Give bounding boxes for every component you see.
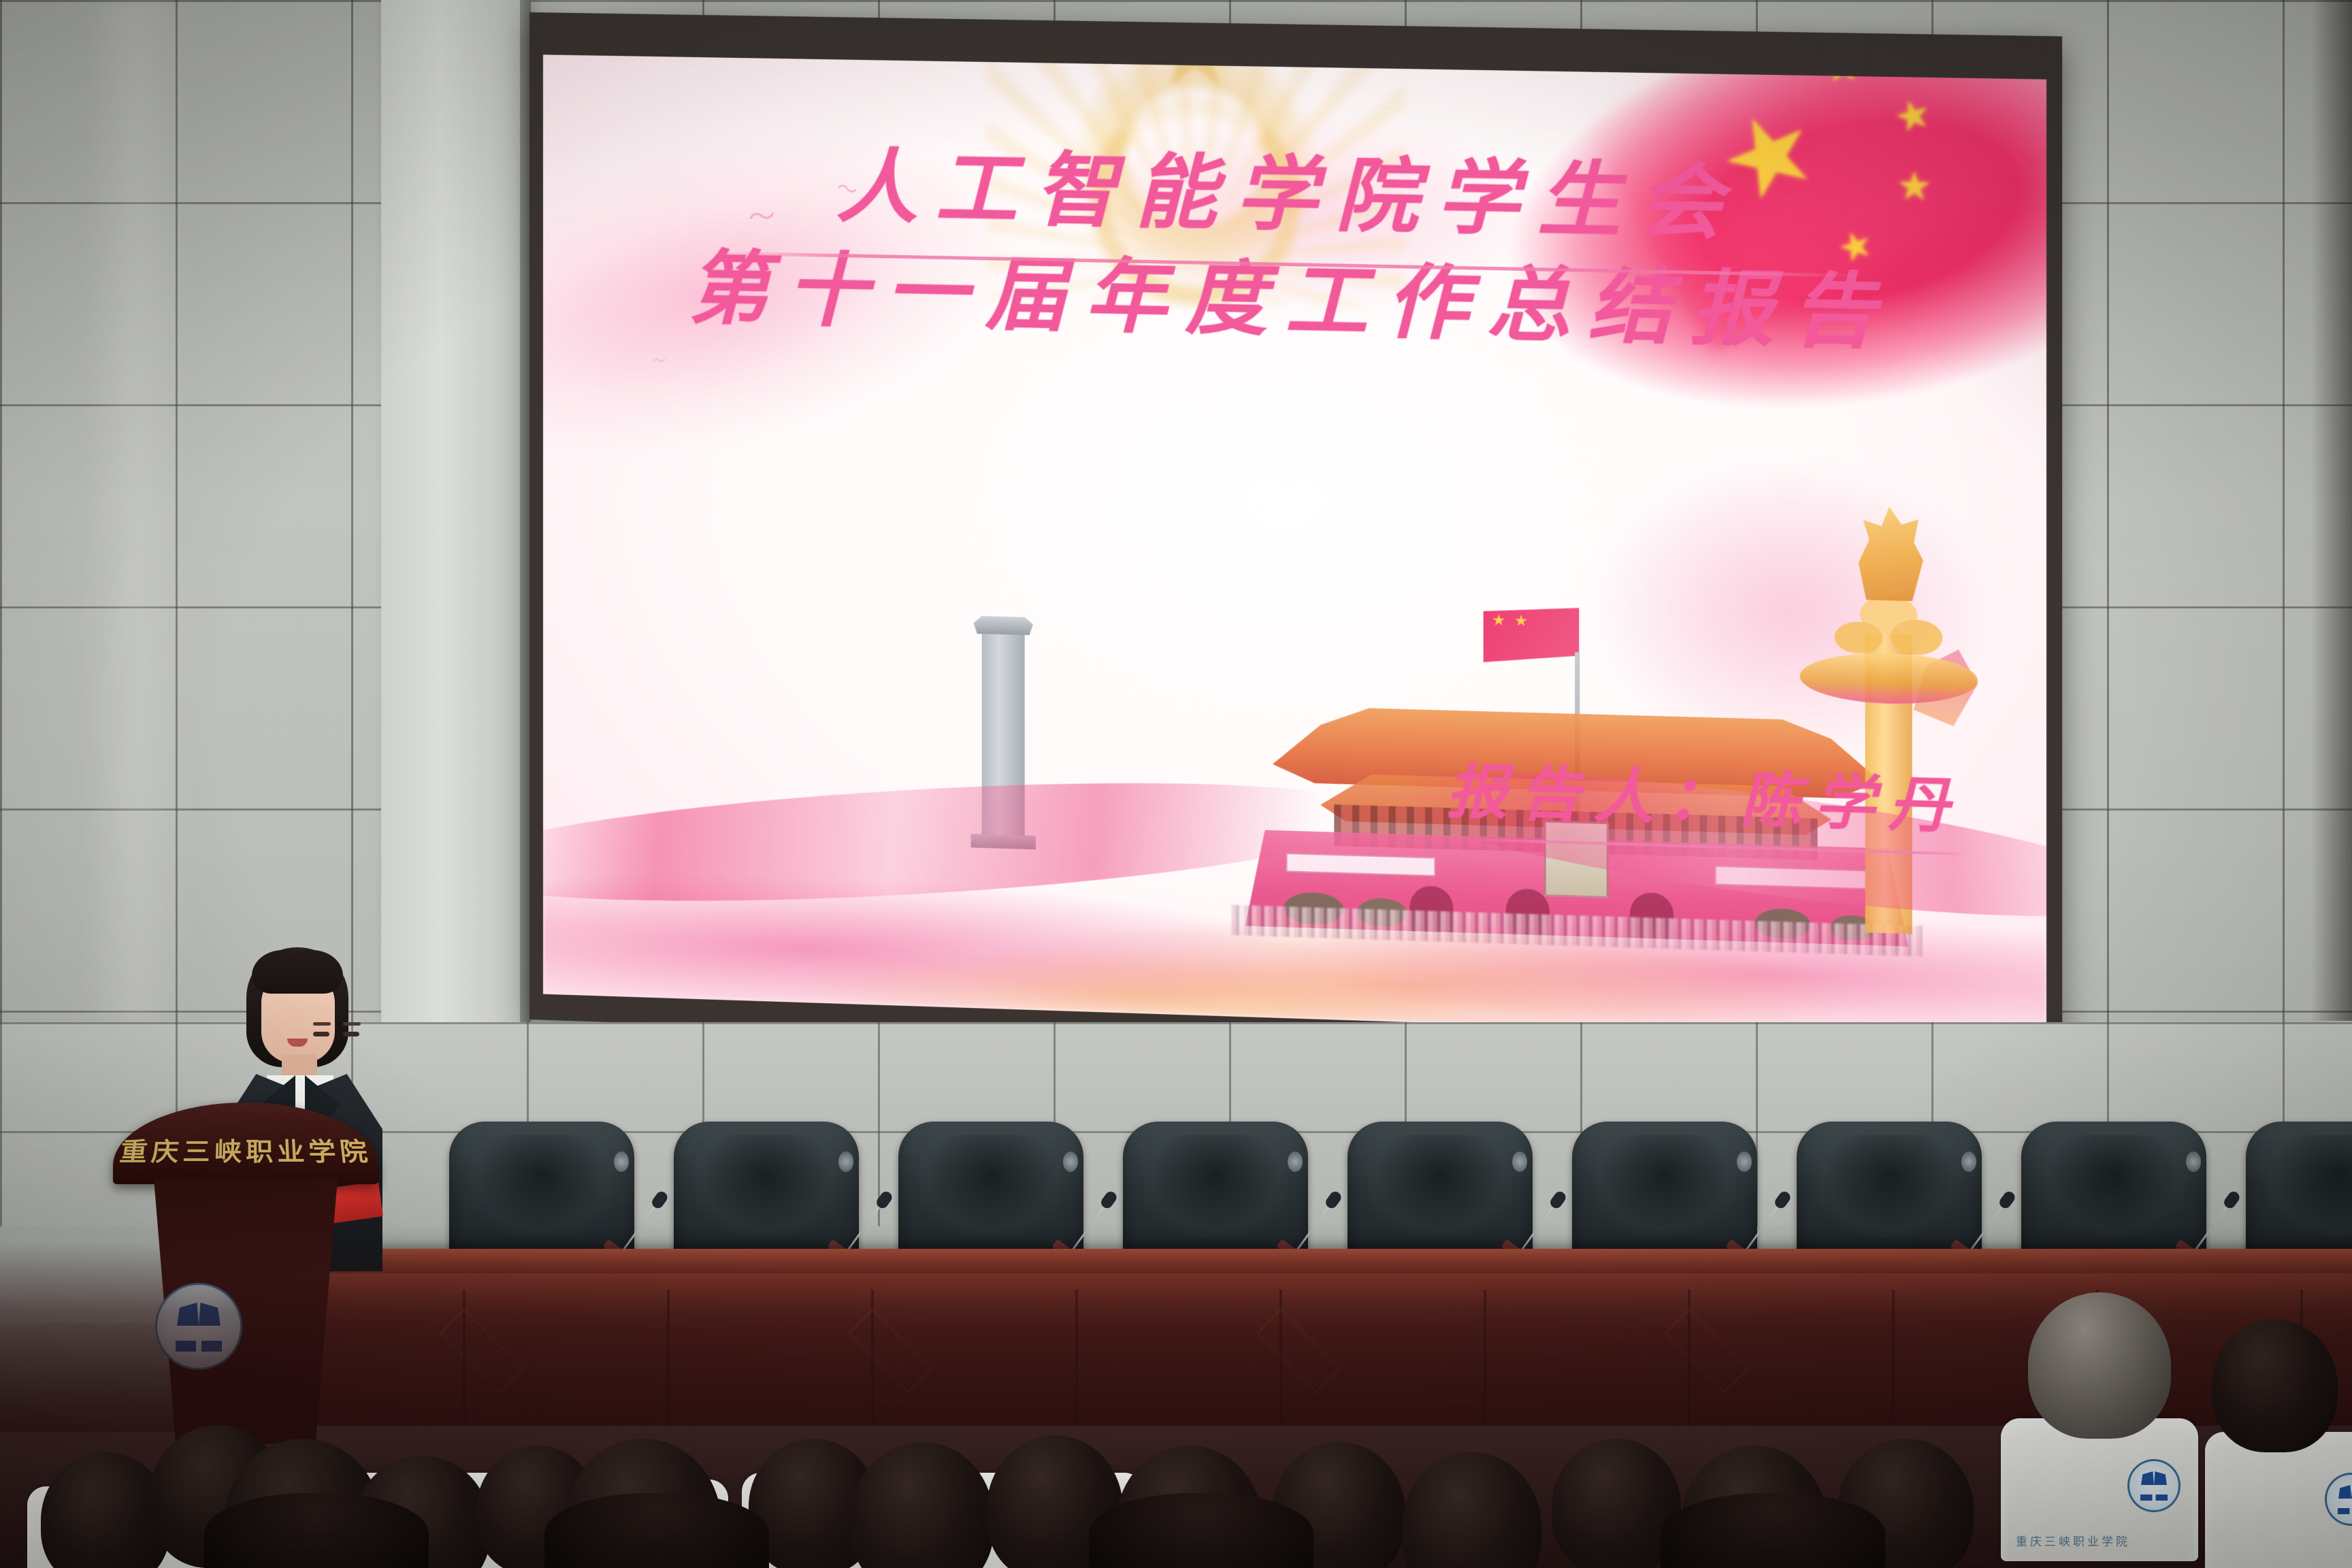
microphone-head-icon — [1548, 1190, 1568, 1211]
wall-pillar — [381, 0, 531, 1089]
slide-title-block: 人工智能学院学生会 第十一届年度工作总结报告 — [543, 128, 2046, 369]
slide-presenter-text: 报告人：陈学丹 — [1447, 742, 1962, 844]
tiananmen-flag-icon — [1484, 606, 1580, 665]
microphone-head-icon — [650, 1190, 670, 1211]
presenter-fringe — [252, 950, 343, 994]
school-emblem-on-seat-cover — [2127, 1459, 2180, 1512]
lectern-top-panel: 重庆三峡职业学院 — [113, 1102, 378, 1184]
audience-member-head — [2212, 1320, 2338, 1452]
audience-area: 重庆三峡职业学院 — [0, 1241, 2352, 1568]
lectern-institution-name: 重庆三峡职业学院 — [110, 1132, 382, 1169]
projection-screen: ★ ★ ★ ★ ★ ～ ～ ～ ～ 人工智能学院学生会 第十一届年度工作总结报告… — [543, 54, 2046, 1043]
audience-member-shoulders — [204, 1493, 429, 1568]
microphone-head-icon — [1324, 1190, 1343, 1211]
audience-member-shoulders — [1661, 1493, 1885, 1568]
audience-seat — [2205, 1432, 2352, 1568]
presenter-eye-left — [313, 1032, 329, 1036]
presenter-eye-right — [343, 1032, 359, 1036]
photo-scene: ★ ★ ★ ★ ★ ～ ～ ～ ～ 人工智能学院学生会 第十一届年度工作总结报告… — [0, 0, 2352, 1568]
microphone-head-icon — [1099, 1190, 1119, 1211]
presenter-eyebrow-left — [313, 1022, 331, 1026]
slide-presenter-block: 报告人：陈学丹 — [1447, 742, 1962, 855]
flag-star-small-icon-1: ★ — [1822, 54, 1864, 89]
microphone-head-icon — [875, 1190, 894, 1211]
audience-member-shoulders — [1089, 1493, 1313, 1568]
wall-light-sheen-secondary — [82, 0, 191, 1021]
huabiao-mythical-beast — [1852, 502, 1929, 602]
projection-screen-frame: ★ ★ ★ ★ ★ ～ ～ ～ ～ 人工智能学院学生会 第十一届年度工作总结报告… — [529, 12, 2062, 1070]
presenter-eyebrow-right — [343, 1022, 361, 1026]
microphone-head-icon — [2222, 1190, 2242, 1211]
audience-member-head — [2028, 1292, 2171, 1439]
bird-icon-4: ～ — [651, 349, 667, 370]
audience-member-shoulders — [544, 1493, 769, 1568]
monument-cap — [974, 616, 1033, 635]
microphone-head-icon — [1773, 1190, 1793, 1211]
school-emblem-on-seat-cover — [2325, 1473, 2352, 1526]
audience-seat: 重庆三峡职业学院 — [2001, 1418, 2198, 1561]
wall-shadow-right — [2311, 0, 2352, 1021]
microphone-head-icon — [1997, 1190, 2017, 1211]
seat-cover-institution-name: 重庆三峡职业学院 — [2016, 1532, 2130, 1549]
